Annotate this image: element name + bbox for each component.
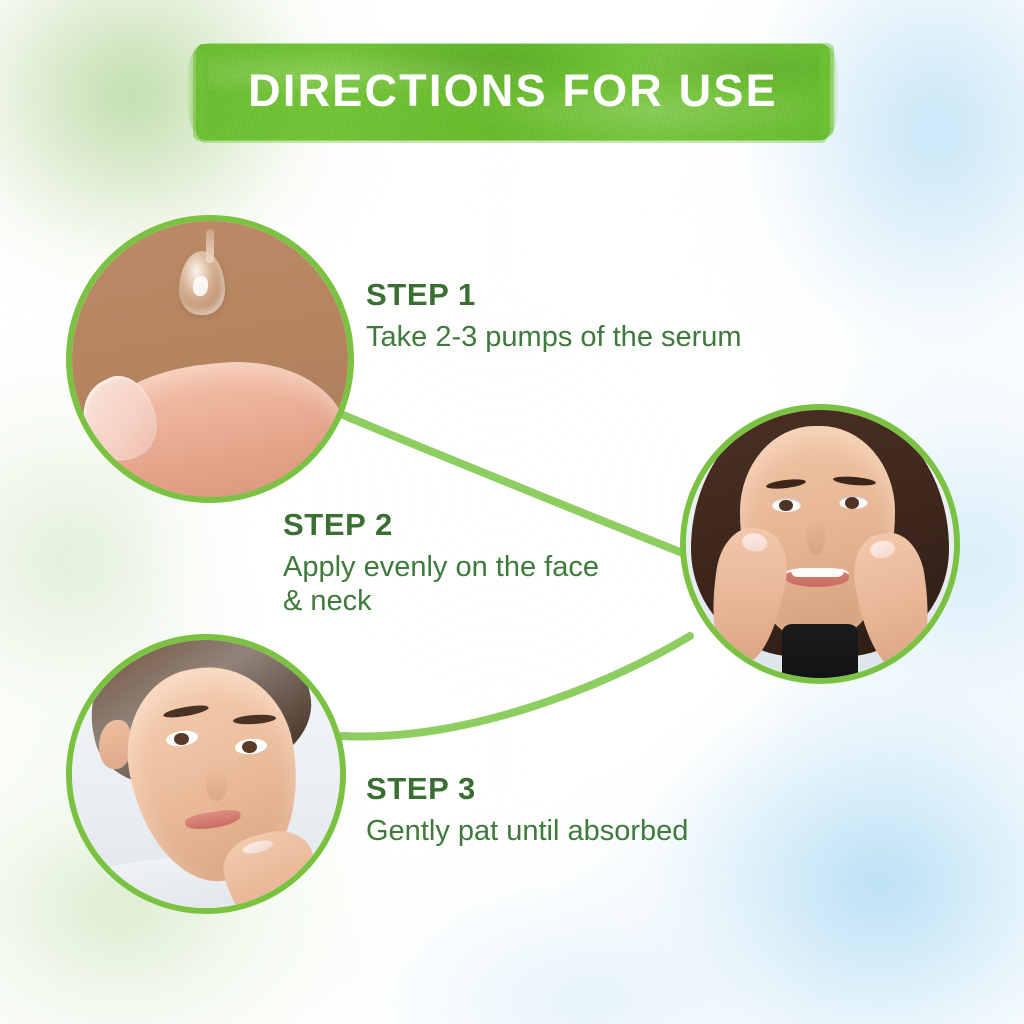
nose <box>206 766 227 801</box>
pupil-left <box>174 733 189 745</box>
step-3-title: STEP 3 <box>366 772 846 806</box>
directions-for-use-poster: DIRECTIONS FOR USE <box>0 0 1024 1024</box>
step-2-description: Apply evenly on the face & neck <box>283 550 683 618</box>
nose <box>807 517 826 555</box>
fingernail-right <box>868 539 895 560</box>
woman-patting-cheek-photo <box>72 640 340 908</box>
teeth <box>791 569 845 577</box>
woman-hands-on-face-photo <box>686 410 954 678</box>
step-3-text-block: STEP 3 Gently pat until absorbed <box>366 772 846 848</box>
serum-drop-on-fingertip-photo <box>72 221 348 497</box>
serum-droplet <box>179 251 225 315</box>
pupil-right <box>845 497 859 509</box>
step-1-text-block: STEP 1 Take 2-3 pumps of the serum <box>366 278 846 354</box>
step-3-image-circle <box>66 634 346 914</box>
fingernail-left <box>741 532 768 553</box>
ear <box>99 720 131 768</box>
step-2-text-block: STEP 2 Apply evenly on the face & neck <box>283 508 683 619</box>
step-3-description: Gently pat until absorbed <box>366 814 846 848</box>
step-2-title: STEP 2 <box>283 508 683 542</box>
step-2-image-circle <box>680 404 960 684</box>
step-1-image-circle <box>66 215 354 503</box>
connector-step2-to-step3 <box>342 636 690 736</box>
fingernail <box>242 838 275 857</box>
blue-wash-bottom <box>300 834 860 1024</box>
neck-and-top <box>782 624 857 683</box>
page-title: DIRECTIONS FOR USE <box>196 44 830 140</box>
step-1-title: STEP 1 <box>366 278 846 312</box>
step-1-description: Take 2-3 pumps of the serum <box>366 320 846 354</box>
header-banner: DIRECTIONS FOR USE <box>196 44 830 140</box>
pupil-left <box>779 500 793 512</box>
